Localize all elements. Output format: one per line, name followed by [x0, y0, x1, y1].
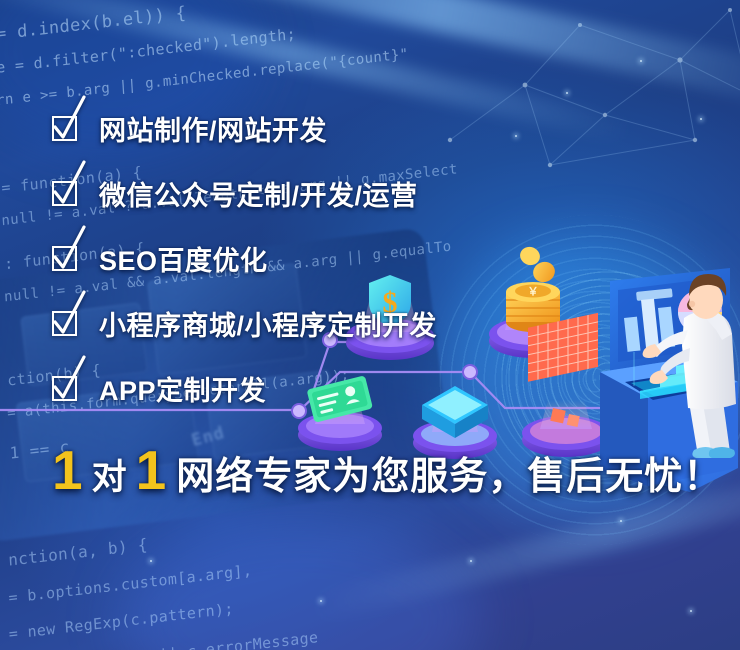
checkbox-checked-icon[interactable]	[52, 181, 77, 206]
service-checklist: 网站制作/网站开发 微信公众号定制/开发/运营 SEO百度优化	[52, 96, 437, 421]
network-grid-decoration	[430, 0, 740, 220]
list-item[interactable]: APP定制开发	[52, 356, 437, 421]
sparkle-decoration	[320, 600, 322, 602]
code-line: nction(a, b) {	[8, 535, 149, 570]
checkbox-checked-icon[interactable]	[52, 376, 77, 401]
glow-blob-bottom	[120, 520, 480, 650]
slogan-number-second: 1	[132, 443, 171, 498]
code-line: e = d.filter(":checked").length;	[0, 25, 297, 77]
code-line: = b.options.custom[a.arg],	[8, 561, 253, 607]
list-item[interactable]: 微信公众号定制/开发/运营	[52, 161, 437, 226]
slogan-tail-text: 网络专家为您服务，售后无忧！	[170, 458, 722, 496]
checkbox-checked-icon[interactable]	[52, 116, 77, 141]
code-line: = d.index(b.el)) {	[0, 3, 187, 45]
sparkle-decoration	[150, 560, 152, 562]
checkbox-checked-icon[interactable]	[52, 246, 77, 271]
sparkle-decoration	[566, 92, 568, 94]
sparkle-decoration	[620, 520, 622, 522]
sparkle-decoration	[470, 560, 472, 562]
list-item-label: 微信公众号定制/开发/运营	[99, 174, 418, 213]
list-item[interactable]: SEO百度优化	[52, 226, 437, 291]
list-item-label: APP定制开发	[99, 369, 266, 408]
list-item[interactable]: 网站制作/网站开发	[52, 96, 437, 161]
sparkle-decoration	[690, 610, 692, 612]
slogan: 1 对 1 网络专家为您服务，售后无忧！	[48, 443, 722, 498]
service-banner: End .prevUntilAll("input[type=checkbox]"…	[0, 0, 740, 650]
code-line: n d.test(a.val) || c.errorMessage	[9, 628, 319, 650]
sparkle-decoration	[515, 135, 517, 137]
slogan-middle-word: 对	[87, 460, 132, 495]
sparkle-decoration	[640, 60, 642, 62]
list-item[interactable]: 小程序商城/小程序定制开发	[52, 291, 437, 356]
sparkle-decoration	[700, 118, 702, 120]
checkbox-checked-icon[interactable]	[52, 311, 77, 336]
list-item-label: 网站制作/网站开发	[99, 109, 327, 148]
list-item-label: SEO百度优化	[99, 239, 268, 278]
slogan-number-first: 1	[48, 443, 87, 498]
code-line: = new RegExp(c.pattern);	[8, 599, 234, 643]
list-item-label: 小程序商城/小程序定制开发	[99, 304, 437, 343]
